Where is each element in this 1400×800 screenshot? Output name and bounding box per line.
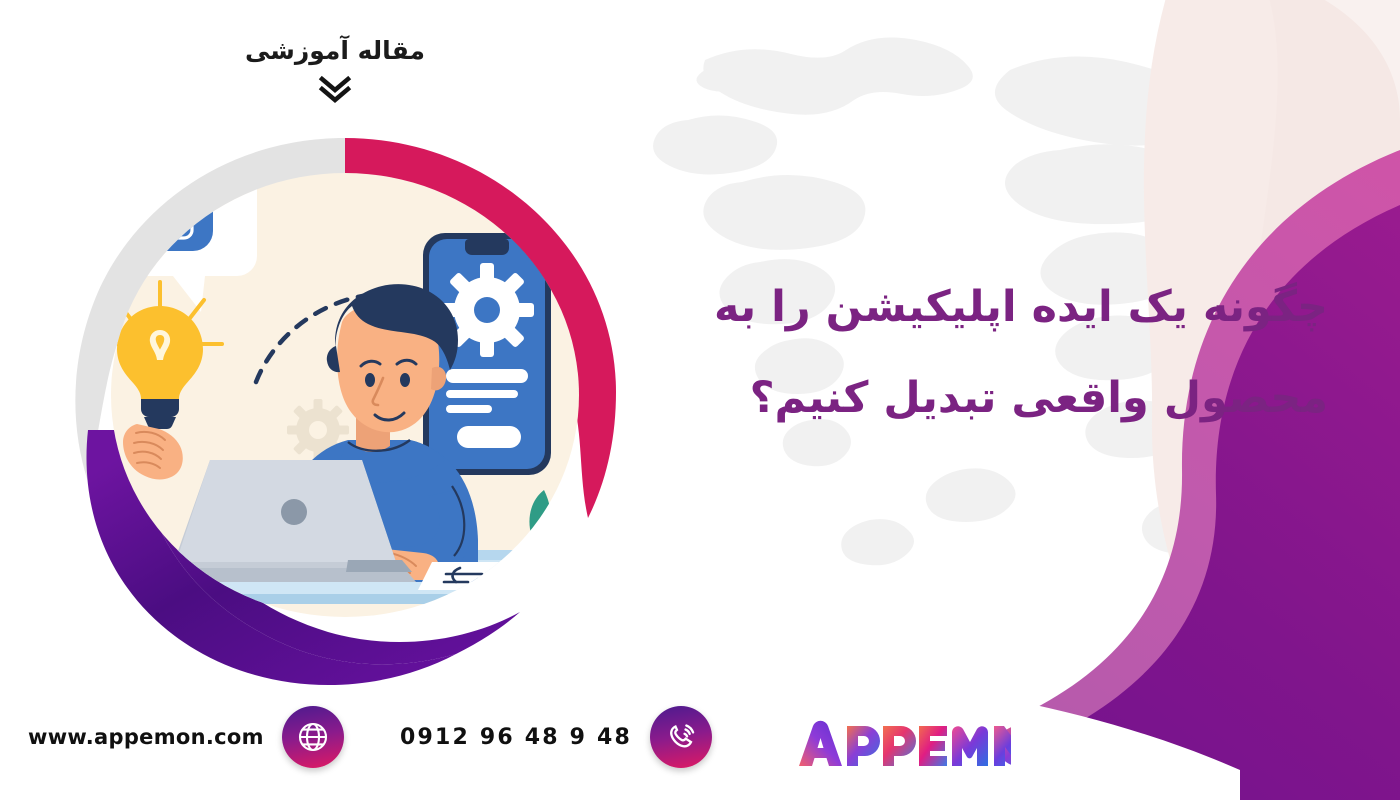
website-contact[interactable]: www.appemon.com	[28, 706, 344, 768]
page-title: چگونه یک ایده اپلیکیشن را به محصول واقعی…	[628, 286, 1328, 420]
eyebrow-block: مقاله آموزشی	[240, 38, 430, 105]
smartphone-mockup	[421, 233, 554, 475]
potted-plant	[529, 484, 616, 601]
banner-canvas: مقاله آموزشی چگونه یک ایده اپلیکیشن را ب…	[0, 0, 1400, 800]
website-text: www.appemon.com	[28, 725, 264, 749]
phone-text: 0912 96 48 9 48	[400, 725, 632, 750]
globe-icon	[282, 706, 344, 768]
headline-line-2: محصول واقعی تبدیل کنیم؟	[628, 377, 1328, 420]
appemon-wordmark	[795, 718, 1011, 772]
hero-illustration	[60, 130, 640, 690]
paper-and-pen	[418, 562, 536, 590]
headline-line-1: چگونه یک ایده اپلیکیشن را به	[628, 286, 1328, 329]
brand-logo-appemon[interactable]	[795, 718, 1011, 772]
illustration-svg	[60, 130, 640, 690]
phone-ringing-icon	[650, 706, 712, 768]
footer-bar: www.appemon.com 0912 96 48 9 48	[0, 690, 1400, 800]
chevron-double-down-icon	[318, 75, 352, 105]
phone-contact[interactable]: 0912 96 48 9 48	[400, 706, 712, 768]
eyebrow-label: مقاله آموزشی	[240, 38, 430, 63]
pen	[480, 571, 537, 586]
